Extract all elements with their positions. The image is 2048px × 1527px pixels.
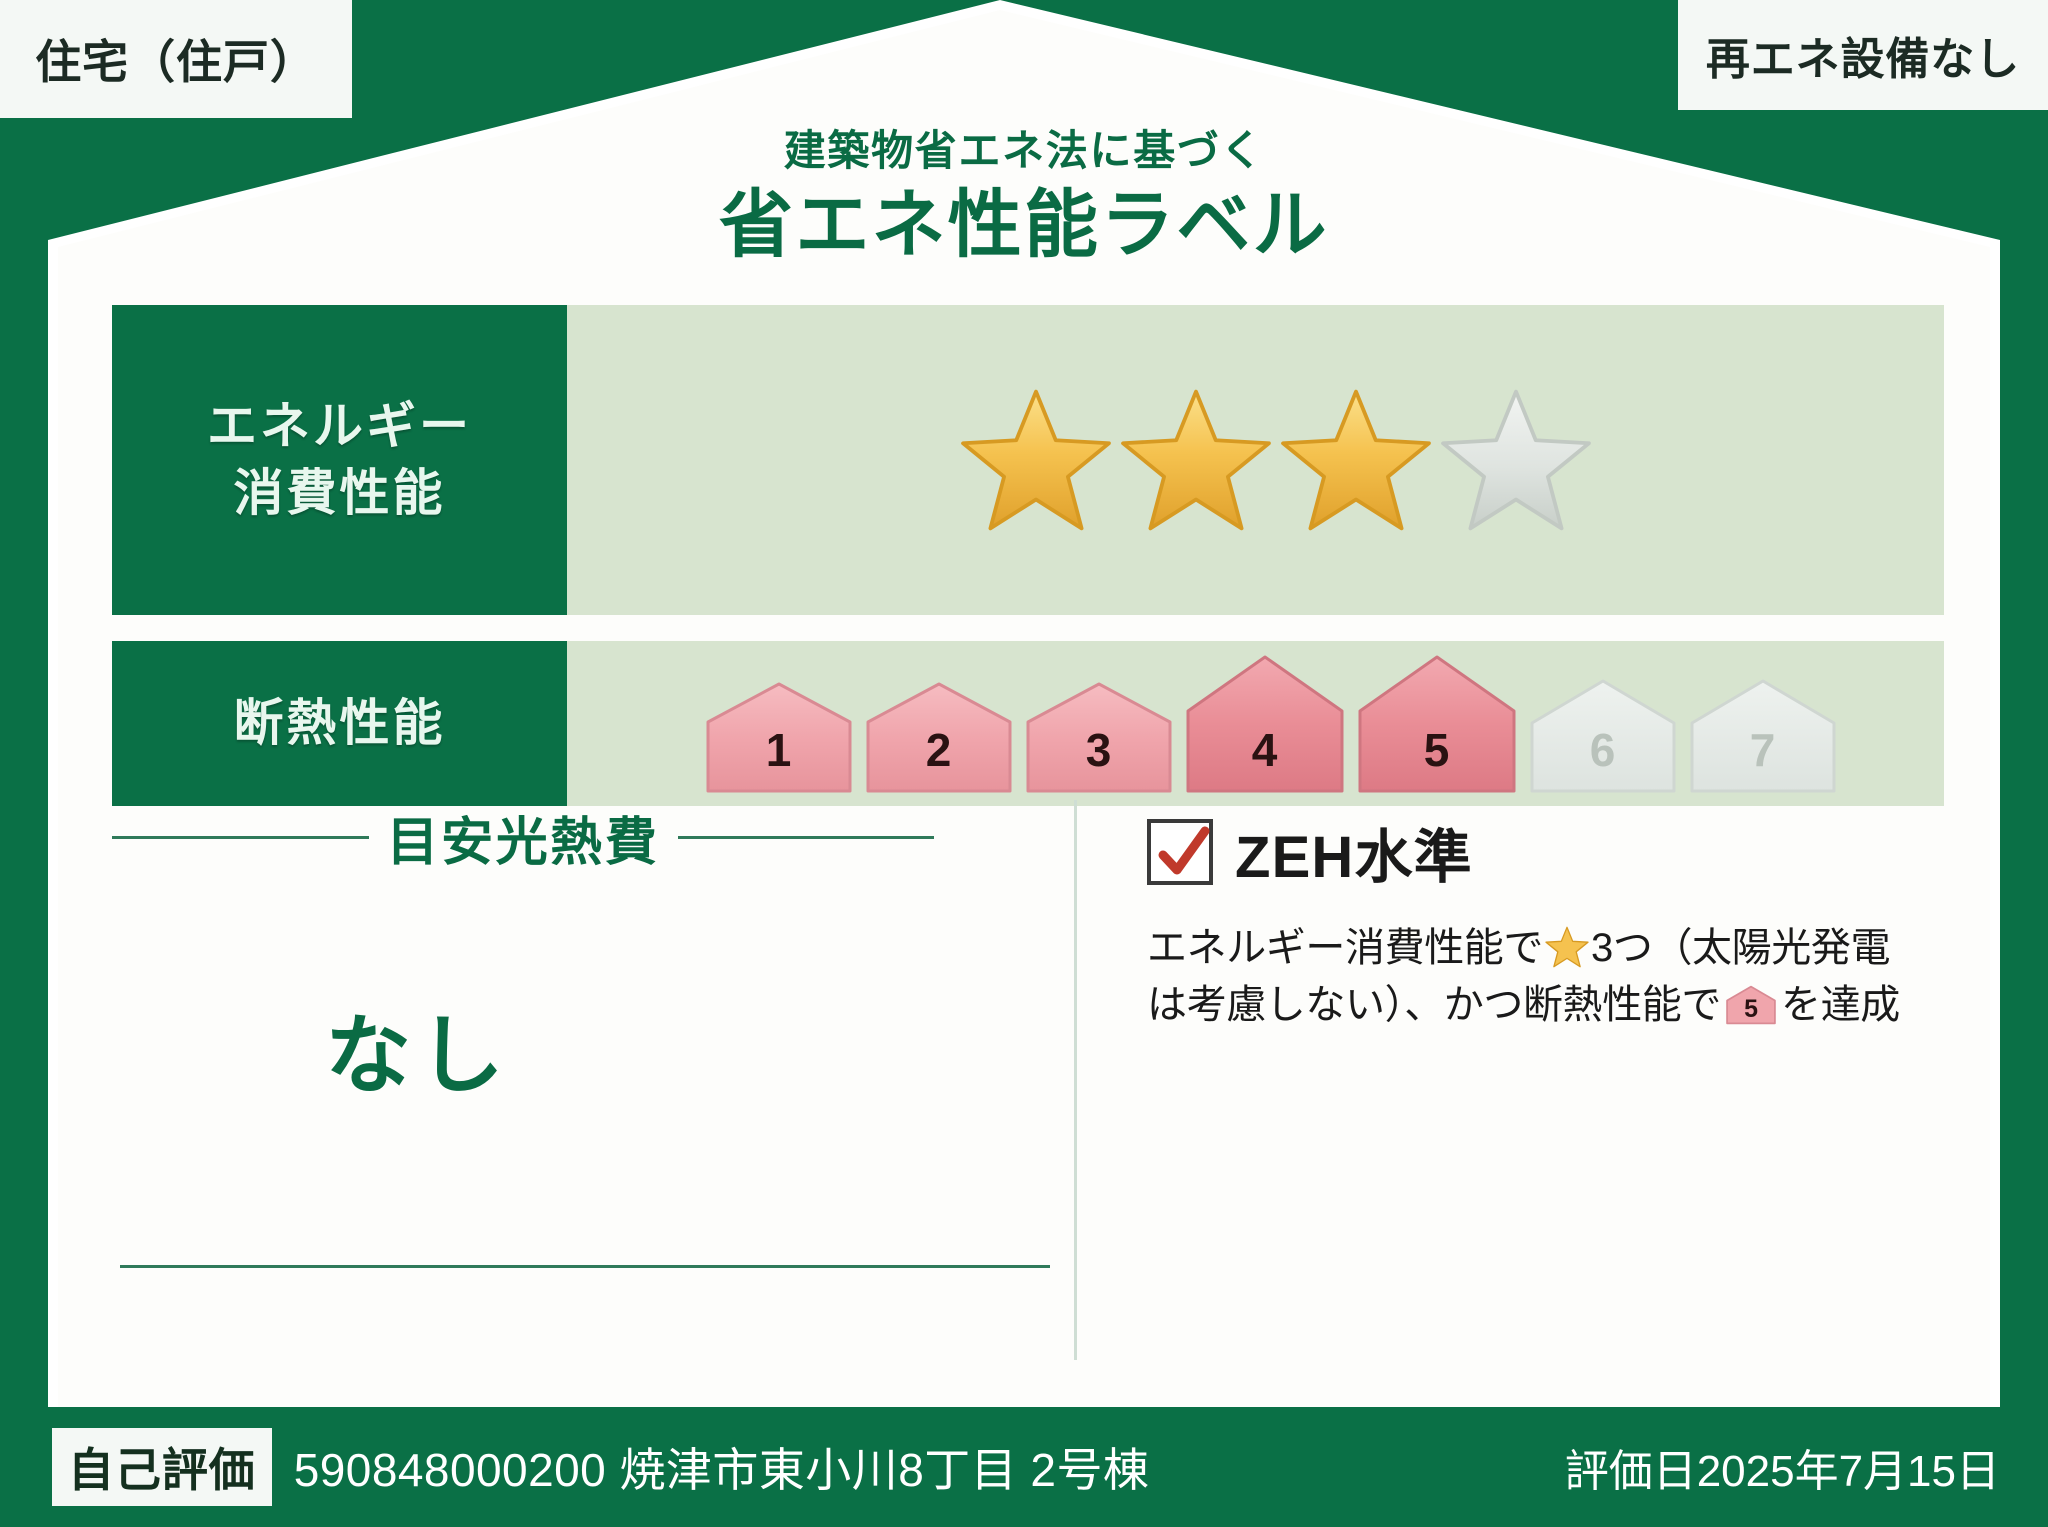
cost-title-row: 目安光熱費 [112,800,1074,875]
energy-performance-label: 住宅（住戸） 再エネ設備なし 建築物省エネ法に基づく 省エネ性能ラベル エネルギ… [0,0,2048,1527]
page-title: 省エネ性能ラベル [0,186,2048,264]
zeh-checkbox[interactable] [1147,819,1213,885]
label-subtitle: 建築物省エネ法に基づく [0,128,2048,174]
zeh-description: エネルギー消費性能で3つ（太陽光発電 は考慮しない）、かつ断熱性能で5を達成 [1147,920,1944,1043]
insulation-grade-number: 3 [1024,723,1174,777]
zeh-section: ZEH水準 エネルギー消費性能で3つ（太陽光発電 は考慮しない）、かつ断熱性能で… [1077,800,1944,1360]
cost-value: なし [112,985,1074,1110]
energy-label-line2: 消費性能 [234,460,446,528]
svg-text:5: 5 [1744,995,1758,1023]
star-empty-icon [1440,384,1592,536]
zeh-header: ZEH水準 [1147,810,1944,894]
label-header: 建築物省エネ法に基づく 省エネ性能ラベル [0,128,2048,264]
insulation-grade-number: 6 [1528,723,1678,777]
zeh-desc-part3: は考慮しない）、かつ断熱性能で [1147,983,1721,1027]
insulation-grade-7: 7 [1688,677,1838,795]
cost-title-rule-right [678,836,935,839]
insulation-grade-1: 1 [704,680,854,795]
insulation-grade-6: 6 [1528,677,1678,795]
insulation-grade-number: 7 [1688,723,1838,777]
property-id-and-address: 590848000200 焼津市東小川8丁目 2号棟 [294,1434,1150,1500]
insulation-grade-2: 2 [864,680,1014,795]
cost-bottom-rule [120,1265,1050,1268]
insulation-performance-label: 断熱性能 [112,641,567,806]
insulation-performance-value: 1 2 3 [567,641,1944,806]
inline-star-icon [1545,926,1589,968]
energy-performance-label: エネルギー 消費性能 [112,305,567,615]
insulation-grade-number: 2 [864,723,1014,777]
energy-performance-row: エネルギー 消費性能 [112,305,1944,615]
insulation-grade-number: 1 [704,723,854,777]
estimated-utility-cost-section: 目安光熱費 なし [112,800,1077,1360]
evaluation-date: 評価日2025年7月15日 [1565,1435,2000,1499]
insulation-grade-scale: 1 2 3 [704,653,1838,795]
zeh-desc-part4: を達成 [1781,983,1900,1027]
zeh-desc-part2: 3つ（太陽光発電 [1591,926,1890,970]
renewable-equipment-badge: 再エネ設備なし [1678,0,2048,110]
building-type-badge: 住宅（住戸） [0,0,352,118]
footer-bar: 自己評価 590848000200 焼津市東小川8丁目 2号棟 評価日2025年… [0,1407,2048,1527]
star-filled-icon [1120,384,1272,536]
check-icon [1155,825,1213,885]
cost-title: 目安光熱費 [369,800,678,875]
lower-section: 目安光熱費 なし ZEH水準 エネルギー消費性能で3つ（太陽光発電 は考慮しない… [112,800,1944,1360]
energy-label-line1: エネルギー [207,393,472,461]
inline-insulation-grade-badge: 5 [1725,983,1777,1043]
star-filled-icon [960,384,1112,536]
cost-title-rule-left [112,836,369,839]
insulation-grade-number: 5 [1356,723,1518,777]
evaluation-type-badge: 自己評価 [52,1428,272,1506]
insulation-performance-row: 断熱性能 [112,641,1944,806]
star-filled-icon [1280,384,1432,536]
insulation-grade-4: 4 [1184,653,1346,795]
insulation-grade-3: 3 [1024,680,1174,795]
insulation-grade-number: 4 [1184,723,1346,777]
insulation-grade-5: 5 [1356,653,1518,795]
star-rating [960,384,1592,536]
zeh-title: ZEH水準 [1235,810,1473,894]
zeh-desc-part1: エネルギー消費性能で [1147,926,1543,970]
energy-performance-value [567,305,1944,615]
performance-rows: エネルギー 消費性能 [112,305,1944,832]
